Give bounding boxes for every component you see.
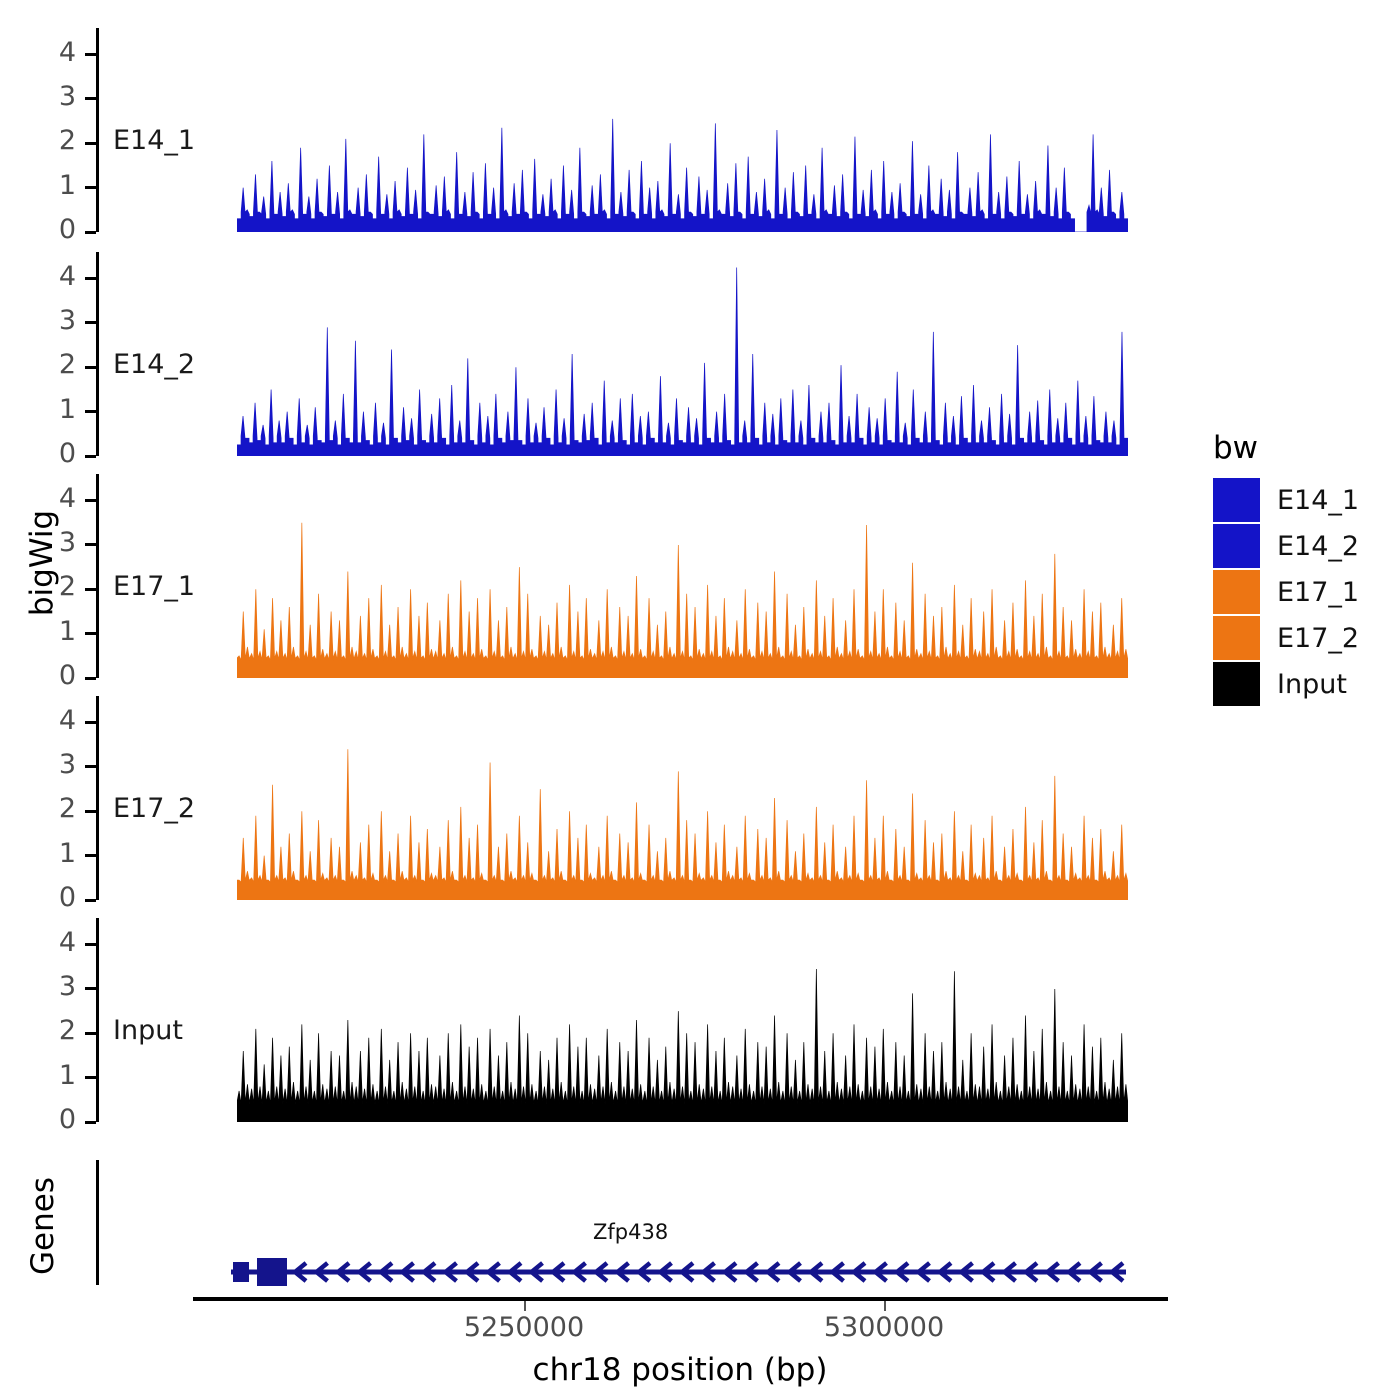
panel-axis-spine [96,474,99,678]
y-tick-label-1: 1 [16,394,76,425]
legend-label-e14_1: E14_1 [1277,485,1359,516]
y-tick-label-2: 2 [16,349,76,380]
y-tick-label-4: 4 [16,37,76,68]
y-tick-1 [85,1076,96,1079]
y-tick-0 [85,677,96,680]
y-tick-3 [85,987,96,990]
y-tick-0 [85,899,96,902]
y-tick-label-1: 1 [16,838,76,869]
legend-item-input[interactable]: Input [1213,662,1347,706]
bigwig-panel-e17_1: 01234E17_1 [96,474,1128,678]
y-tick-label-2: 2 [16,1015,76,1046]
legend: bw E14_1E14_2E17_1E17_2Input [1213,430,1393,720]
y-tick-3 [85,97,96,100]
y-tick-label-2: 2 [16,571,76,602]
signal-area-input [237,918,1128,1122]
y-tick-1 [85,410,96,413]
y-tick-label-0: 0 [16,1104,76,1135]
y-tick-label-4: 4 [16,927,76,958]
x-axis-tick-label-0: 5250000 [404,1312,644,1343]
y-tick-label-1: 1 [16,170,76,201]
gene-model[interactable] [231,1255,1126,1289]
legend-label-e17_1: E17_1 [1277,577,1359,608]
y-tick-label-0: 0 [16,660,76,691]
y-tick-label-3: 3 [16,305,76,336]
y-tick-2 [85,588,96,591]
legend-item-e17_1[interactable]: E17_1 [1213,570,1359,614]
legend-item-e14_2[interactable]: E14_2 [1213,524,1359,568]
y-tick-3 [85,321,96,324]
y-tick-label-2: 2 [16,125,76,156]
legend-item-e14_1[interactable]: E14_1 [1213,478,1359,522]
bigwig-panel-e17_2: 01234E17_2 [96,696,1128,900]
y-tick-label-3: 3 [16,749,76,780]
signal-area-e17_2 [237,696,1128,900]
y-tick-0 [85,231,96,234]
y-tick-2 [85,810,96,813]
y-tick-label-4: 4 [16,261,76,292]
y-tick-1 [85,186,96,189]
x-axis-line [193,1297,1168,1301]
y-tick-4 [85,721,96,724]
gene-label: Zfp438 [593,1220,668,1244]
y-tick-2 [85,366,96,369]
legend-swatch-e14_2 [1213,524,1260,568]
x-axis-tick-0 [524,1301,526,1311]
y-tick-0 [85,1121,96,1124]
signal-area-e17_1 [237,474,1128,678]
y-tick-4 [85,943,96,946]
y-tick-4 [85,277,96,280]
track-label-e17_1: E17_1 [113,571,195,602]
track-label-e17_2: E17_2 [113,793,195,824]
x-axis-title: chr18 position (bp) [340,1352,1020,1388]
signal-area-e14_2 [237,252,1128,456]
legend-swatch-e17_2 [1213,616,1260,660]
panel-axis-spine [96,252,99,456]
y-tick-label-4: 4 [16,483,76,514]
genes-axis-spine [96,1160,99,1285]
y-tick-4 [85,499,96,502]
x-axis-tick-label-1: 5300000 [764,1312,1004,1343]
y-tick-0 [85,455,96,458]
legend-label-e14_2: E14_2 [1277,531,1359,562]
track-label-input: Input [113,1015,183,1046]
y-tick-label-3: 3 [16,527,76,558]
y-tick-label-3: 3 [16,81,76,112]
bigwig-panel-input: 01234Input [96,918,1128,1122]
figure-root: bigWig Genes 01234E14_101234E14_201234E1… [0,0,1400,1400]
y-tick-2 [85,142,96,145]
y-axis-title-genes: Genes [25,1171,61,1281]
y-tick-label-1: 1 [16,616,76,647]
y-tick-label-0: 0 [16,882,76,913]
y-tick-4 [85,53,96,56]
y-tick-2 [85,1032,96,1035]
legend-swatch-input [1213,662,1260,706]
y-tick-label-3: 3 [16,971,76,1002]
y-axis-title-bigwig: bigWig [24,503,60,623]
panel-axis-spine [96,696,99,900]
legend-title: bw [1213,430,1258,466]
panel-axis-spine [96,918,99,1122]
signal-area-e14_1 [237,28,1128,232]
y-tick-label-4: 4 [16,705,76,736]
y-tick-label-2: 2 [16,793,76,824]
y-tick-label-1: 1 [16,1060,76,1091]
y-tick-1 [85,632,96,635]
y-tick-3 [85,543,96,546]
genes-panel: Zfp438 [96,1160,1186,1295]
legend-label-e17_2: E17_2 [1277,623,1359,654]
x-axis-tick-1 [884,1301,886,1311]
legend-item-e17_2[interactable]: E17_2 [1213,616,1359,660]
legend-swatch-e14_1 [1213,478,1260,522]
y-tick-label-0: 0 [16,438,76,469]
panel-axis-spine [96,28,99,232]
track-label-e14_2: E14_2 [113,349,195,380]
legend-swatch-e17_1 [1213,570,1260,614]
y-tick-label-0: 0 [16,214,76,245]
legend-label-input: Input [1277,669,1347,700]
bigwig-panel-e14_1: 01234E14_1 [96,28,1128,232]
y-tick-3 [85,765,96,768]
y-tick-1 [85,854,96,857]
track-label-e14_1: E14_1 [113,125,195,156]
bigwig-panel-e14_2: 01234E14_2 [96,252,1128,456]
